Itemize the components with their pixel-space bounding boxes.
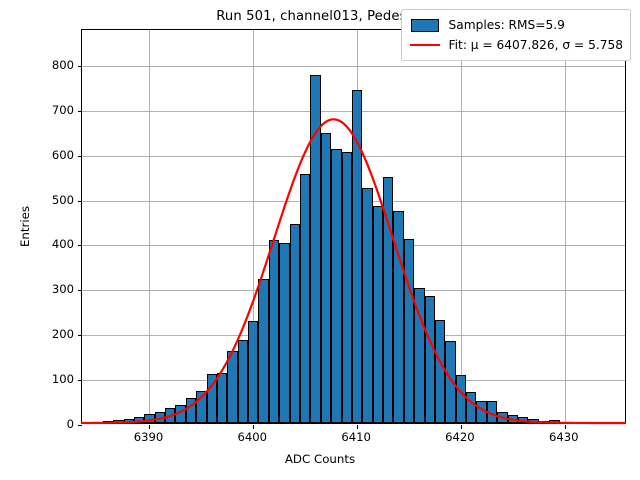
y-tick-label: 700 bbox=[0, 103, 74, 117]
y-tick-label: 500 bbox=[0, 193, 74, 207]
x-tick-label: 6430 bbox=[504, 430, 624, 444]
y-tick bbox=[78, 111, 82, 112]
x-tick-label: 6390 bbox=[88, 430, 208, 444]
plot-area bbox=[81, 29, 626, 424]
legend-item-fit: Fit: μ = 6407.826, σ = 5.758 bbox=[408, 35, 623, 55]
y-tick bbox=[78, 245, 82, 246]
legend-line-icon bbox=[408, 38, 442, 52]
legend-patch-icon bbox=[408, 18, 442, 32]
x-axis-title: ADC Counts bbox=[0, 452, 640, 466]
x-tick bbox=[149, 425, 150, 429]
y-tick bbox=[78, 156, 82, 157]
x-tick-label: 6410 bbox=[296, 430, 416, 444]
legend: Samples: RMS=5.9 Fit: μ = 6407.826, σ = … bbox=[401, 9, 631, 61]
x-tick bbox=[565, 425, 566, 429]
y-tick bbox=[78, 425, 82, 426]
y-axis-title: Entries bbox=[18, 29, 32, 424]
legend-label-samples: Samples: RMS=5.9 bbox=[449, 18, 565, 32]
matplotlib-figure: Run 501, channel013, Pedestal 0100200300… bbox=[0, 0, 640, 480]
x-tick-label: 6400 bbox=[192, 430, 312, 444]
y-tick-label: 600 bbox=[0, 148, 74, 162]
y-tick bbox=[78, 201, 82, 202]
y-tick bbox=[78, 380, 82, 381]
y-tick-label: 300 bbox=[0, 282, 74, 296]
y-tick bbox=[78, 290, 82, 291]
x-tick bbox=[357, 425, 358, 429]
x-tick bbox=[461, 425, 462, 429]
legend-label-fit: Fit: μ = 6407.826, σ = 5.758 bbox=[449, 38, 623, 52]
gaussian-fit-curve bbox=[82, 30, 625, 423]
y-tick-label: 0 bbox=[0, 417, 74, 431]
y-tick bbox=[78, 335, 82, 336]
y-tick-label: 400 bbox=[0, 237, 74, 251]
y-tick-label: 100 bbox=[0, 372, 74, 386]
y-tick-label: 200 bbox=[0, 327, 74, 341]
y-tick-label: 800 bbox=[0, 58, 74, 72]
legend-item-samples: Samples: RMS=5.9 bbox=[408, 15, 623, 35]
x-tick bbox=[253, 425, 254, 429]
x-tick-label: 6420 bbox=[400, 430, 520, 444]
y-tick bbox=[78, 66, 82, 67]
